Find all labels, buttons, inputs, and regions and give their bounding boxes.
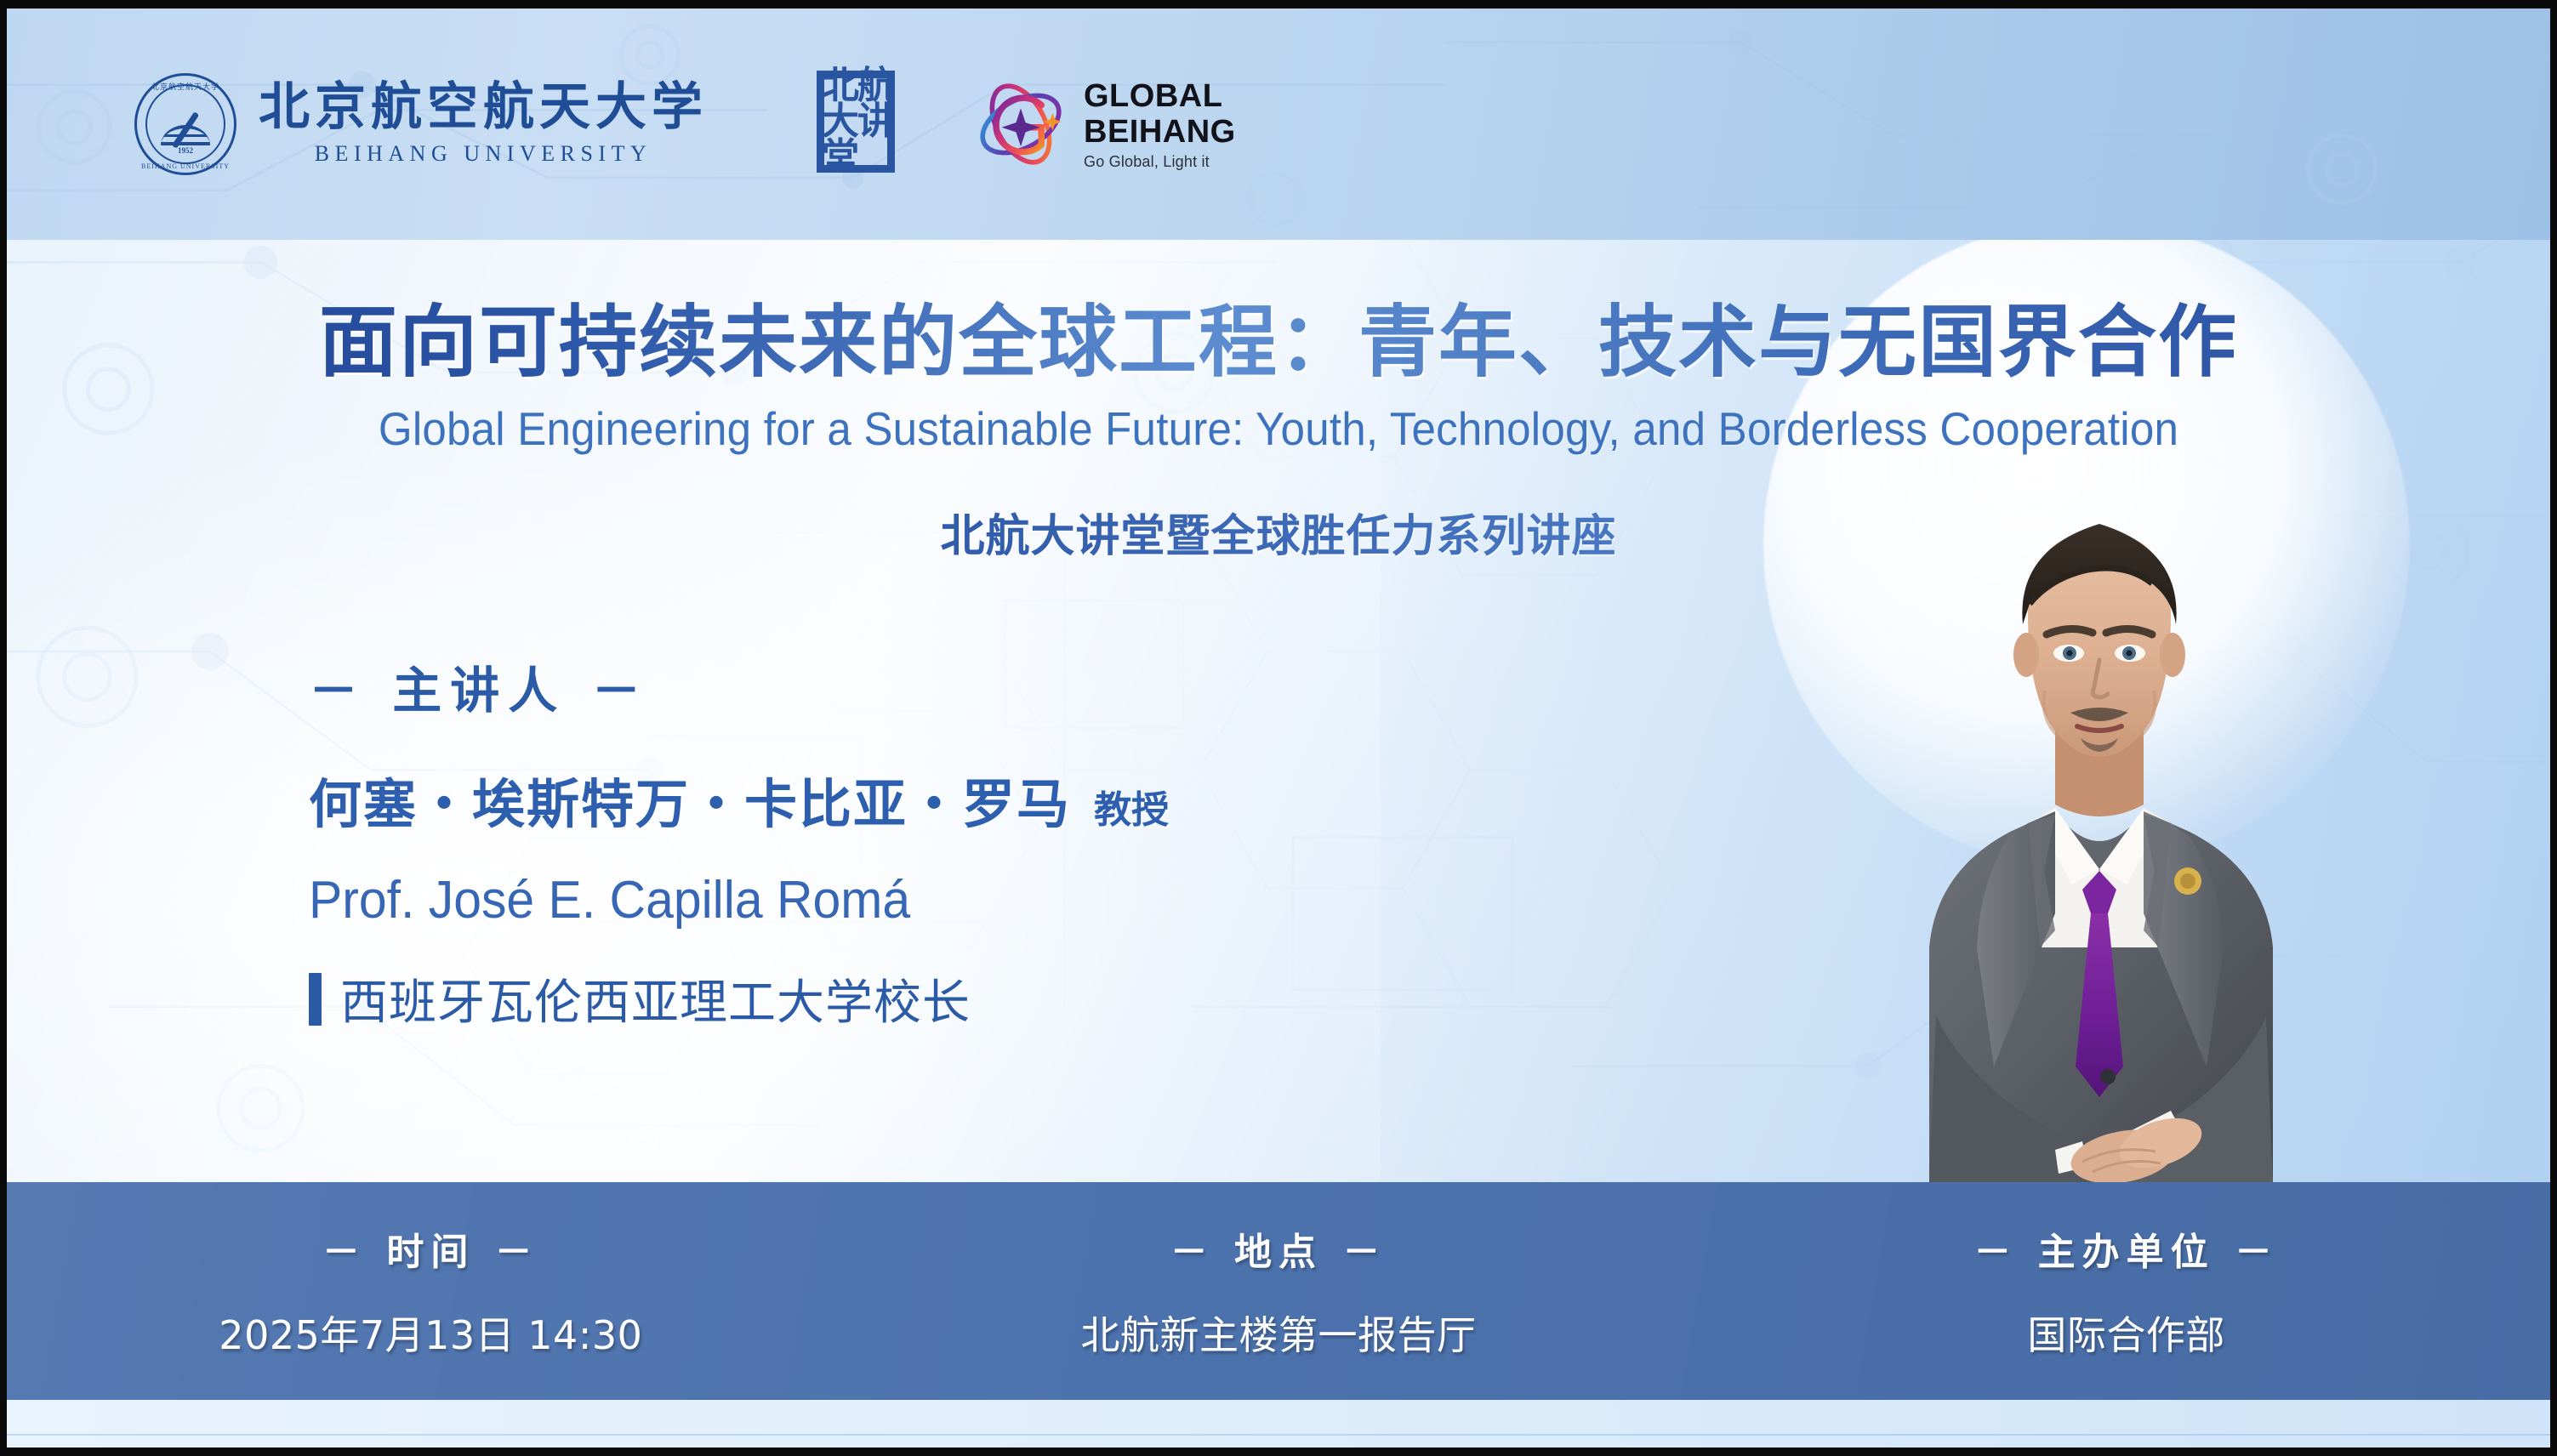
lecture-hall-seal-icon: 北航大讲堂 bbox=[789, 60, 900, 188]
speaker-portrait bbox=[1827, 471, 2372, 1186]
global-beihang-globe-icon bbox=[973, 77, 1068, 172]
footer-venue-value: 北航新主楼第一报告厅 bbox=[855, 1305, 1703, 1361]
beihang-seal-year: 1952 bbox=[134, 146, 236, 155]
speaker-name-cn: 何塞・埃斯特万・卡比亚・罗马 bbox=[309, 773, 1071, 835]
poster-canvas: 北京航空航天大学 1952 BEIHANG UNIVERSITY 北京航空航天大… bbox=[7, 9, 2550, 1447]
footer-time-value: 2025年7月13日 14:30 bbox=[7, 1305, 855, 1361]
global-beihang-tagline: Go Global, Light it bbox=[1084, 154, 1236, 169]
beihang-seal-top-text: 北京航空航天大学 bbox=[134, 81, 236, 92]
header-band: 北京航空航天大学 1952 BEIHANG UNIVERSITY 北京航空航天大… bbox=[7, 9, 2550, 240]
beihang-seal-icon: 北京航空航天大学 1952 BEIHANG UNIVERSITY bbox=[134, 73, 236, 175]
speaker-portrait-illustration bbox=[1827, 471, 2372, 1186]
speaker-affiliation: 西班牙瓦伦西亚理工大学校长 bbox=[340, 964, 971, 1033]
footer-organizer-label: － 主办单位 － bbox=[1702, 1221, 2550, 1276]
poster-title-en: Global Engineering for a Sustainable Fut… bbox=[96, 401, 2462, 456]
global-beihang-wordmark: GLOBAL BEIHANG Go Global, Light it bbox=[1084, 80, 1236, 169]
logo-row: 北京航空航天大学 1952 BEIHANG UNIVERSITY 北京航空航天大… bbox=[134, 51, 1236, 197]
footer-venue-label: － 地点 － bbox=[855, 1221, 1703, 1276]
beihang-emblem-icon bbox=[159, 105, 212, 147]
global-beihang-logo: GLOBAL BEIHANG Go Global, Light it bbox=[973, 77, 1236, 172]
footer-bottom-strip bbox=[7, 1400, 2550, 1447]
lecture-hall-seal-glyph: 北航大讲堂 bbox=[822, 74, 893, 169]
speaker-block: － 主讲人 － 何塞・埃斯特万・卡比亚・罗马 教授 Prof. José E. … bbox=[309, 651, 1169, 1033]
footer-col-venue: － 地点 － 北航新主楼第一报告厅 bbox=[855, 1221, 1703, 1361]
event-poster: 北京航空航天大学 1952 BEIHANG UNIVERSITY 北京航空航天大… bbox=[0, 0, 2557, 1456]
beihang-wordmark: 北京航空航天大学 BEIHANG UNIVERSITY bbox=[259, 82, 708, 166]
footer-col-time: － 时间 － 2025年7月13日 14:30 bbox=[7, 1221, 855, 1361]
speaker-affiliation-row: 西班牙瓦伦西亚理工大学校长 bbox=[309, 964, 1169, 1033]
footer-organizer-value: 国际合作部 bbox=[1702, 1305, 2550, 1361]
poster-title-cn: 面向可持续未来的全球工程：青年、技术与无国界合作 bbox=[7, 279, 2550, 392]
footer-time-label: － 时间 － bbox=[7, 1221, 855, 1276]
footer-band: － 时间 － 2025年7月13日 14:30 － 地点 － 北航新主楼第一报告… bbox=[7, 1182, 2550, 1400]
beihang-seal-bottom-text: BEIHANG UNIVERSITY bbox=[134, 162, 236, 170]
footer-col-organizer: － 主办单位 － 国际合作部 bbox=[1702, 1221, 2550, 1361]
beihang-wordmark-cn: 北京航空航天大学 bbox=[259, 82, 708, 134]
speaker-name-en: Prof. José E. Capilla Romá bbox=[309, 870, 1126, 930]
speaker-section-label: － 主讲人 － bbox=[309, 651, 1169, 722]
speaker-title-cn: 教授 bbox=[1094, 788, 1169, 832]
global-beihang-line2: BEIHANG bbox=[1084, 116, 1236, 148]
accent-bar-icon bbox=[309, 973, 322, 1026]
global-beihang-line1: GLOBAL bbox=[1084, 80, 1236, 112]
footer-strip-line bbox=[7, 1434, 2550, 1436]
beihang-wordmark-en: BEIHANG UNIVERSITY bbox=[259, 141, 708, 167]
speaker-name-cn-row: 何塞・埃斯特万・卡比亚・罗马 教授 bbox=[309, 761, 1169, 838]
